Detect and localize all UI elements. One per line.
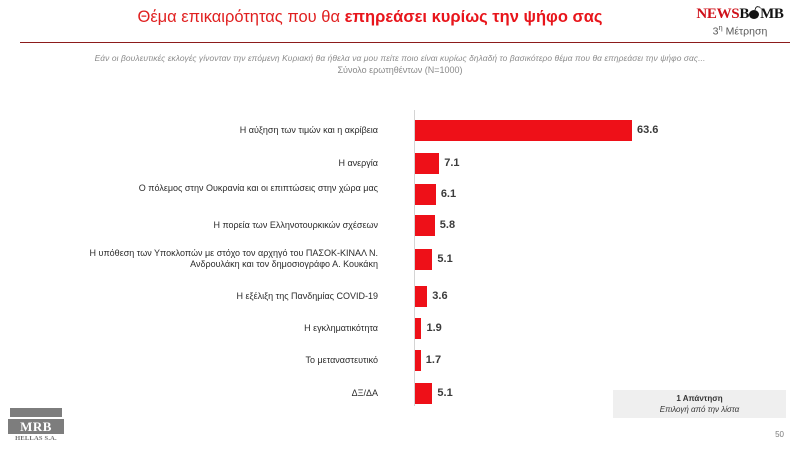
- measurement-label: 3η Μέτρηση: [688, 23, 792, 38]
- slide-header: Θέμα επικαιρότητας που θα επηρεάσει κυρί…: [0, 0, 800, 44]
- page-title: Θέμα επικαιρότητας που θα επηρεάσει κυρί…: [60, 8, 680, 27]
- bomb-icon: [749, 8, 760, 19]
- bar: [415, 249, 432, 270]
- bar-value-label: 1.9: [426, 318, 441, 339]
- bar-value-label: 5.8: [440, 215, 455, 236]
- chart-row: Η εξέλιξη της Πανδημίας COVID-193.6: [0, 286, 800, 307]
- mrb-logo-bar: [10, 408, 62, 417]
- bar: [415, 383, 432, 404]
- bar-value-label: 6.1: [441, 184, 456, 205]
- bar-category-label: Η ανεργία: [55, 158, 385, 169]
- newsbomb-logo-b: B: [739, 6, 749, 22]
- bar-value-label: 5.1: [437, 249, 452, 270]
- bar-category-label: Ο πόλεμος στην Ουκρανία και οι επιπτώσει…: [55, 183, 385, 194]
- page-title-plain: Θέμα επικαιρότητας που θα: [137, 8, 344, 26]
- page-title-emphasis: επηρεάσει κυρίως την ψήφο σας: [345, 8, 603, 26]
- bar-category-label: Η πορεία των Ελληνοτουρκικών σχέσεων: [55, 220, 385, 231]
- newsbomb-logo: NEWSBMB: [688, 6, 792, 22]
- chart-row: Η εγκληματικότητα1.9: [0, 318, 800, 339]
- mrb-logo-name: MRB: [8, 419, 64, 434]
- bar-value-label: 5.1: [437, 383, 452, 404]
- bar: [415, 153, 439, 174]
- bar: [415, 184, 436, 205]
- bar: [415, 120, 632, 141]
- sample-base-text: Σύνολο ερωτηθέντων (Ν=1000): [20, 64, 780, 77]
- question-text: Εάν οι βουλευτικές εκλογές γίνονταν την …: [20, 52, 780, 64]
- bar: [415, 318, 421, 339]
- bar-value-label: 63.6: [637, 120, 658, 141]
- mrb-logo: MRB HELLAS S.A.: [8, 408, 66, 442]
- measurement-word: Μέτρηση: [723, 26, 768, 38]
- bar-category-label: Η εξέλιξη της Πανδημίας COVID-19: [55, 291, 385, 302]
- answer-note-box: 1 Απάντηση Επιλογή από την λίστα: [613, 390, 786, 418]
- chart-row: Η πορεία των Ελληνοτουρκικών σχέσεων5.8: [0, 215, 800, 236]
- chart-row: Η υπόθεση των Υποκλοπών με στόχο τον αρχ…: [0, 249, 800, 270]
- bar-category-label: Το μεταναστευτικό: [55, 355, 385, 366]
- chart-row: Ο πόλεμος στην Ουκρανία και οι επιπτώσει…: [0, 184, 800, 205]
- question-block: Εάν οι βουλευτικές εκλογές γίνονταν την …: [20, 52, 780, 77]
- mrb-logo-subtitle: HELLAS S.A.: [8, 435, 64, 442]
- bar-value-label: 1.7: [426, 350, 441, 371]
- header-divider: [20, 42, 790, 43]
- bar: [415, 215, 435, 236]
- bar-category-label: Η εγκληματικότητα: [55, 323, 385, 334]
- chart-row: Το μεταναστευτικό1.7: [0, 350, 800, 371]
- bar-category-label: Η αύξηση των τιμών και η ακρίβεια: [55, 125, 385, 136]
- bar-category-label: Η υπόθεση των Υποκλοπών με στόχο τον αρχ…: [55, 248, 385, 270]
- bar-value-label: 3.6: [432, 286, 447, 307]
- chart-row: Η αύξηση των τιμών και η ακρίβεια63.6: [0, 120, 800, 141]
- answer-note-method: Επιλογή από την λίστα: [613, 404, 786, 415]
- newsbomb-logo-news: NEWS: [696, 6, 739, 22]
- answer-note-count: 1 Απάντηση: [613, 393, 786, 404]
- bar-value-label: 7.1: [444, 153, 459, 174]
- bar-chart: Η αύξηση των τιμών και η ακρίβεια63.6Η α…: [0, 110, 800, 406]
- bar-category-label: ΔΞ/ΔΑ: [55, 388, 385, 399]
- bar: [415, 286, 427, 307]
- newsbomb-brand: NEWSBMB 3η Μέτρηση: [688, 6, 792, 38]
- bar: [415, 350, 421, 371]
- page-number: 50: [775, 430, 784, 439]
- chart-row: Η ανεργία7.1: [0, 153, 800, 174]
- newsbomb-logo-mb: MB: [760, 6, 784, 22]
